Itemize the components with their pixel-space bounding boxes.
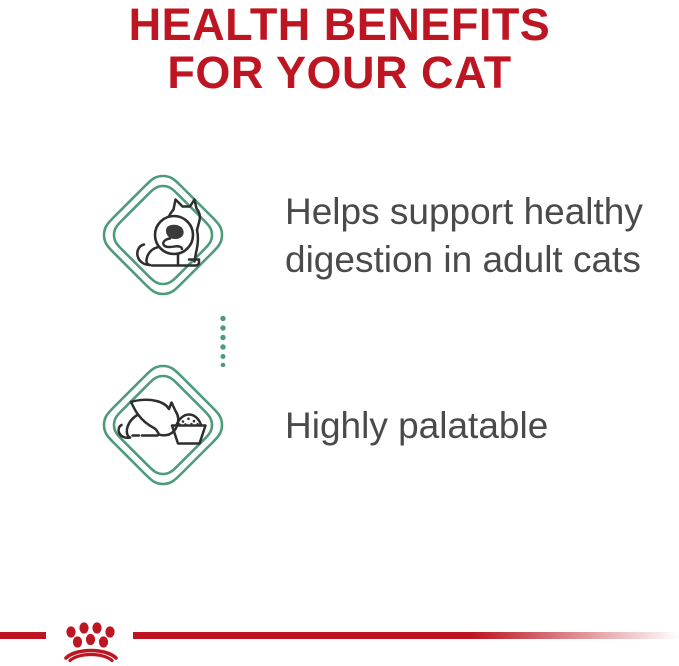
benefit-item-palatability: Highly palatable [0,363,679,488]
royal-canin-brand-band [0,604,679,666]
benefit-icon-cell [0,168,285,303]
brand-rule-right [133,632,679,639]
cat-digestion-icon [99,171,227,301]
benefit-item-digestion: Helps support healthy digestion in adult… [0,168,679,303]
title-line-2: FOR YOUR CAT [0,50,679,95]
product-benefits-panel: HEALTH BENEFITS FOR YOUR CAT [0,0,679,666]
page-title: HEALTH BENEFITS FOR YOUR CAT [0,2,679,95]
brand-rule-left [0,632,46,639]
title-line-1: HEALTH BENEFITS [0,2,679,47]
benefit-icon-cell [0,363,285,488]
benefits-list: Helps support healthy digestion in adult… [0,168,679,488]
crown-logo [66,622,116,660]
dotted-connector [213,315,233,367]
cat-eating-bowl-icon [99,361,227,491]
benefit-text-palatability: Highly palatable [285,402,548,450]
benefit-text-digestion: Helps support healthy digestion in adult… [285,188,657,284]
